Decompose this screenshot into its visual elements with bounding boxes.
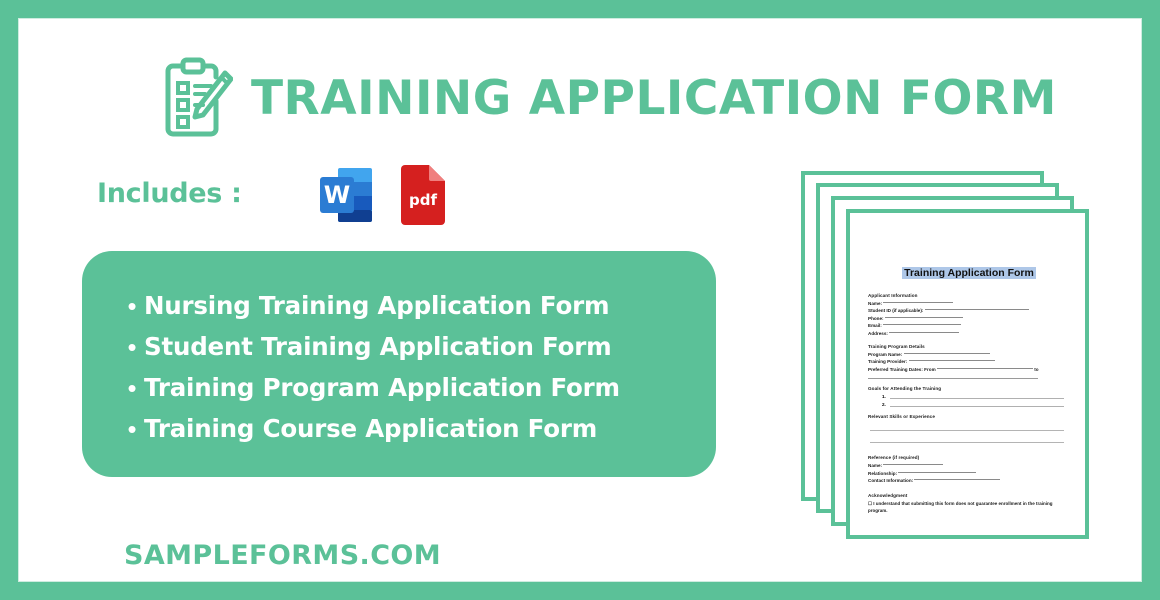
section-heading-skills: Relevant Skills or Experience xyxy=(868,414,1070,419)
list-item-label: Nursing Training Application Form xyxy=(144,289,609,323)
form-list: • Nursing Training Application Form • St… xyxy=(120,289,716,446)
includes-label: Includes : xyxy=(97,178,242,209)
field-reference-name: Name: xyxy=(868,462,1070,469)
field-training-provider: Training Provider: xyxy=(868,358,1070,365)
section-heading-acknowledgment: Acknowledgment xyxy=(868,493,1070,498)
poster-inner-panel: TRAINING APPLICATION FORM Includes : W xyxy=(18,18,1142,582)
list-item[interactable]: • Training Program Application Form xyxy=(120,371,716,405)
svg-text:W: W xyxy=(323,181,349,209)
goal-row-2: 2. xyxy=(882,402,1070,407)
bullet-icon: • xyxy=(120,371,144,405)
field-reference-relationship: Relationship: xyxy=(868,470,1070,477)
acknowledgment-text: ☐ I understand that submitting this form… xyxy=(868,500,1068,514)
field-phone: Phone: xyxy=(868,315,1070,322)
page-title: TRAINING APPLICATION FORM xyxy=(251,71,1057,126)
includes-row: Includes : W pdf xyxy=(97,161,452,225)
section-heading-applicant: Applicant Information xyxy=(868,293,1070,298)
pdf-file-icon: pdf xyxy=(396,165,452,225)
field-email: Email: xyxy=(868,322,1070,329)
header: TRAINING APPLICATION FORM xyxy=(159,55,1057,141)
field-preferred-dates: Preferred Training Dates: From to xyxy=(868,366,1070,373)
skills-rule-2 xyxy=(870,442,1064,443)
bullet-icon: • xyxy=(120,289,144,323)
list-item-label: Student Training Application Form xyxy=(144,330,611,364)
document-title: Training Application Form xyxy=(868,267,1070,279)
document-preview-stack[interactable]: Training Application Form Applicant Info… xyxy=(789,159,1109,539)
list-item-label: Training Program Application Form xyxy=(144,371,620,405)
skills-rule-1 xyxy=(870,430,1064,431)
field-reference-contact: Contact Information: xyxy=(868,477,1070,484)
date-continuation-rule xyxy=(868,378,1038,379)
field-address: Address: xyxy=(868,330,1070,337)
file-format-icons: W pdf xyxy=(318,165,452,225)
section-heading-reference: Reference (if required) xyxy=(868,455,1070,460)
footer-brand: SAMPLEFORMS.COM xyxy=(124,540,441,571)
section-heading-goals: Goals for Attending the Training xyxy=(868,386,1070,391)
list-item[interactable]: • Student Training Application Form xyxy=(120,330,716,364)
list-item[interactable]: • Training Course Application Form xyxy=(120,412,716,446)
poster-canvas: TRAINING APPLICATION FORM Includes : W xyxy=(0,0,1160,600)
field-name: Name: xyxy=(868,300,1070,307)
word-file-icon: W xyxy=(318,165,374,225)
goal-row-1: 1. xyxy=(882,394,1070,399)
document-sheet-front[interactable]: Training Application Form Applicant Info… xyxy=(846,209,1089,539)
list-item[interactable]: • Nursing Training Application Form xyxy=(120,289,716,323)
form-list-card: • Nursing Training Application Form • St… xyxy=(82,251,716,477)
bullet-icon: • xyxy=(120,412,144,446)
svg-text:pdf: pdf xyxy=(409,191,437,209)
section-heading-program: Training Program Details xyxy=(868,344,1070,349)
document-page: Training Application Form Applicant Info… xyxy=(850,213,1085,535)
field-student-id: Student ID (if applicable): xyxy=(868,307,1070,314)
field-program-name: Program Name: xyxy=(868,351,1070,358)
clipboard-checklist-pencil-icon xyxy=(159,55,233,141)
list-item-label: Training Course Application Form xyxy=(144,412,597,446)
bullet-icon: • xyxy=(120,330,144,364)
